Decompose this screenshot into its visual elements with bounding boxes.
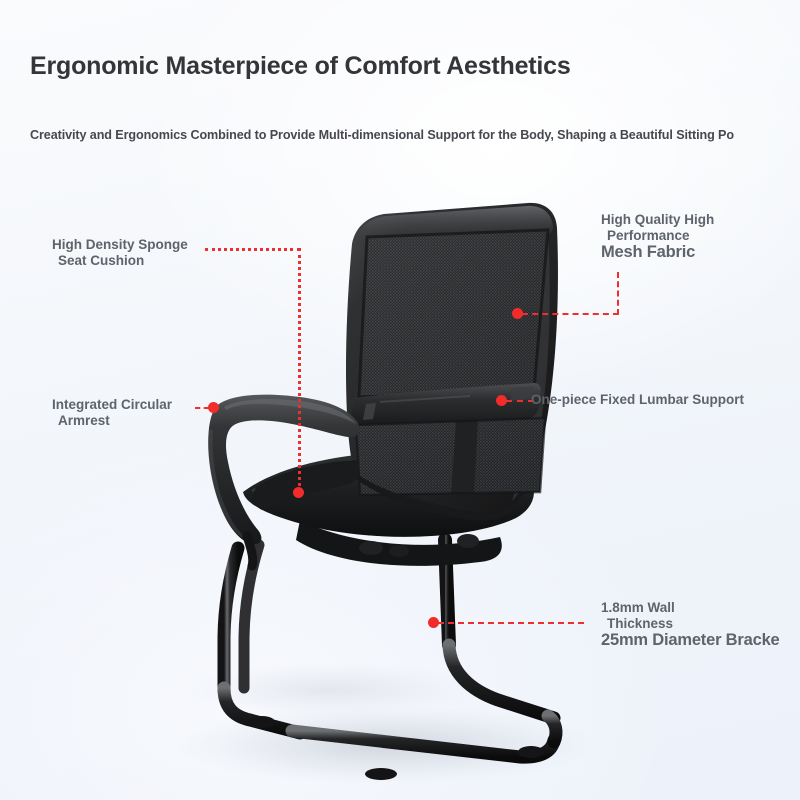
annotation-bracket-emphasis: 25mm Diameter Bracke (601, 631, 780, 650)
annotation-seat-cushion-line2: Seat Cushion (52, 253, 188, 269)
page-title: Ergonomic Masterpiece of Comfort Aesthet… (30, 52, 571, 81)
annotation-bracket: 1.8mm Wall Thickness 25mm Diameter Brack… (601, 600, 780, 650)
annotation-mesh-fabric-line1: High Quality High (601, 212, 714, 228)
marker-seat-cushion (293, 487, 304, 498)
annotation-lumbar-support: One-piece Fixed Lumbar Support (531, 392, 744, 408)
leader-line-armrest (195, 407, 209, 409)
page-subtitle: Creativity and Ergonomics Combined to Pr… (30, 128, 734, 142)
annotation-seat-cushion-line1: High Density Sponge (52, 237, 188, 253)
annotation-armrest-line2: Armrest (52, 413, 172, 429)
leader-line-bracket (438, 622, 584, 624)
annotation-bracket-line1: 1.8mm Wall (601, 600, 780, 616)
infographic-canvas: Ergonomic Masterpiece of Comfort Aesthet… (0, 0, 800, 800)
leader-line-seat-cushion-vertical (298, 248, 301, 493)
marker-armrest (208, 402, 219, 413)
marker-lumbar-support (496, 395, 507, 406)
leader-line-seat-cushion-horizontal (205, 248, 300, 251)
annotation-seat-cushion: High Density Sponge Seat Cushion (52, 237, 188, 268)
annotation-mesh-fabric-emphasis: Mesh Fabric (601, 243, 714, 262)
leader-line-lumbar-support (506, 400, 534, 402)
annotation-armrest: Integrated Circular Armrest (52, 397, 172, 428)
marker-bracket (428, 617, 439, 628)
annotation-mesh-fabric-line2: Performance (601, 228, 714, 244)
annotation-mesh-fabric: High Quality High Performance Mesh Fabri… (601, 212, 714, 262)
annotation-lumbar-support-line1: One-piece Fixed Lumbar Support (531, 392, 744, 408)
marker-mesh-fabric (512, 308, 523, 319)
leader-line-mesh-fabric-vertical (617, 272, 619, 315)
leader-line-mesh-fabric-horizontal (522, 313, 619, 315)
annotation-bracket-line2: Thickness (601, 616, 780, 632)
annotation-armrest-line1: Integrated Circular (52, 397, 172, 413)
